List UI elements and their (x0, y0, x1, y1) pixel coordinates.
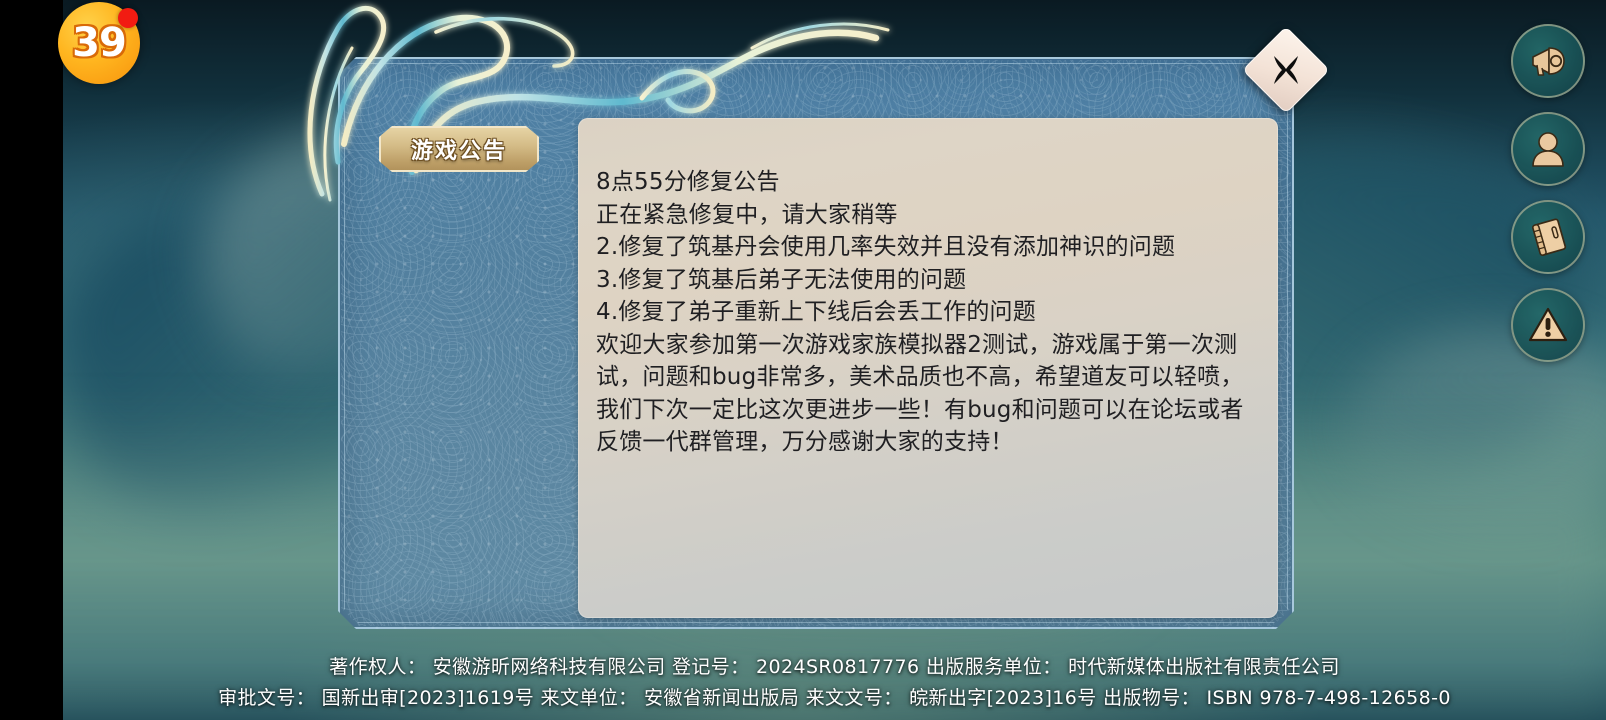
avatar-icon (1525, 126, 1571, 172)
game-screen: 39 (0, 0, 1606, 720)
close-icon (1246, 30, 1326, 110)
announcement-text-body: 8点55分修复公告 正在紧急修复中，请大家稍等 2.修复了筑基丹会使用几率失效并… (578, 118, 1278, 469)
notification-count-badge[interactable]: 39 (58, 2, 140, 84)
legal-line-copyright: 著作权人： 安徽游昕网络科技有限公司 登记号： 2024SR0817776 出版… (63, 652, 1606, 683)
announcement-line: 8点55分修复公告 (596, 166, 1258, 199)
announcement-line: 欢迎大家参加第一次游戏家族模拟器2测试，游戏属于第一次测试，问题和bug非常多，… (596, 329, 1258, 459)
rail-button-codex[interactable] (1511, 200, 1585, 274)
tab-label: 游戏公告 (379, 126, 539, 172)
rail-button-warning[interactable] (1511, 288, 1585, 362)
announcement-line: 2.修复了筑基丹会使用几率失效并且没有添加神识的问题 (596, 231, 1258, 264)
tab-game-announcement[interactable]: 游戏公告 (379, 126, 539, 172)
side-rail (1504, 24, 1592, 362)
rail-button-profile[interactable] (1511, 112, 1585, 186)
book-icon (1525, 214, 1571, 260)
announcement-line: 正在紧急修复中，请大家稍等 (596, 199, 1258, 232)
announcement-line: 4.修复了弟子重新上下线后会丢工作的问题 (596, 296, 1258, 329)
legal-line-approval: 审批文号： 国新出审[2023]1619号 来文单位： 安徽省新闻出版局 来文文… (63, 683, 1606, 714)
letterbox-bar (0, 0, 63, 720)
close-button[interactable] (1246, 30, 1326, 110)
announcement-line: 3.修复了筑基后弟子无法使用的问题 (596, 264, 1258, 297)
megaphone-icon (1525, 38, 1571, 84)
warning-icon (1525, 302, 1571, 348)
announcement-content-panel[interactable]: 8点55分修复公告 正在紧急修复中，请大家稍等 2.修复了筑基丹会使用几率失效并… (578, 118, 1278, 618)
red-dot-indicator (118, 8, 138, 28)
rail-button-announcement[interactable] (1511, 24, 1585, 98)
legal-footer: 著作权人： 安徽游昕网络科技有限公司 登记号： 2024SR0817776 出版… (63, 652, 1606, 714)
